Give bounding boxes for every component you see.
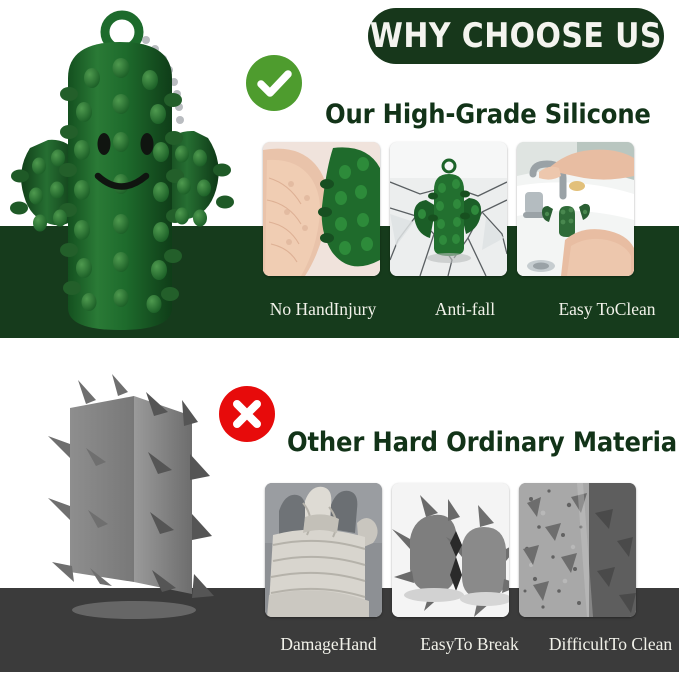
dirty-spiked-surface-photo <box>519 483 636 617</box>
caption-anti-fall: Anti-fall <box>394 299 536 320</box>
why-choose-us-banner: WHY CHOOSE US <box>368 8 664 64</box>
gray-hard-toy-image <box>34 370 246 624</box>
product-comparison-infographic: WHY CHOOSE US Our High-Grade Silicone Ot… <box>0 0 679 679</box>
bad-thumbnail-row <box>265 483 636 617</box>
caption-easy-to-clean: Easy ToClean <box>536 299 678 320</box>
bandaged-hand-photo <box>265 483 382 617</box>
good-thumbnail-row <box>263 142 634 276</box>
green-cactus-toy-image <box>0 8 246 330</box>
check-circle-icon <box>246 55 302 111</box>
caption-no-hand-injury: No HandInjury <box>252 299 394 320</box>
good-caption-row: No HandInjury Anti-fall Easy ToClean <box>252 299 678 320</box>
bad-section-title: Other Hard Ordinary Materials <box>287 429 679 456</box>
green-cactus-toy-on-cracked-floor-photo <box>390 142 507 276</box>
broken-spiked-ball-photo <box>392 483 509 617</box>
hand-palm-with-green-toy-photo <box>263 142 380 276</box>
caption-easy-to-break: EasyTo Break <box>399 634 540 655</box>
good-section-title: Our High-Grade Silicone <box>325 101 651 128</box>
caption-damage-hand: DamageHand <box>258 634 399 655</box>
bad-caption-row: DamageHand EasyTo Break DifficultTo Clea… <box>258 634 679 655</box>
caption-difficult-to-clean: DifficultTo Clean <box>540 634 679 655</box>
banner-title: WHY CHOOSE US <box>370 19 662 53</box>
hands-washing-cactus-toy-in-sink-photo <box>517 142 634 276</box>
